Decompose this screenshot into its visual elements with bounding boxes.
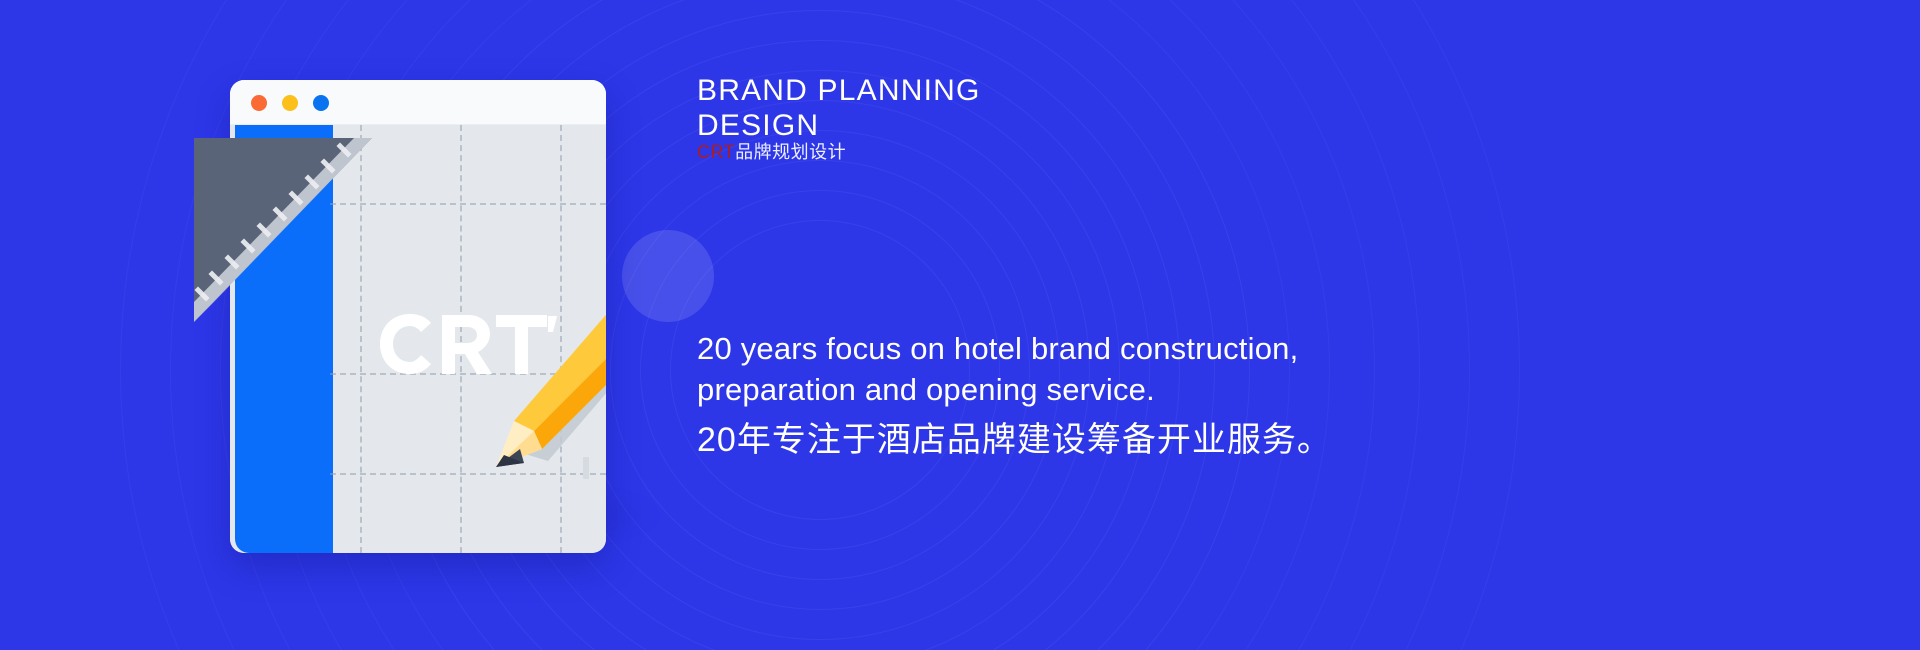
subheading-brand: CRT	[697, 142, 735, 162]
pencil-icon	[478, 271, 606, 481]
close-dot-icon	[251, 95, 267, 111]
browser-titlebar	[230, 80, 606, 125]
copy-block: BRAND PLANNING DESIGN CRT品牌规划设计 20 years…	[697, 0, 1797, 650]
subheading-chinese: 品牌规划设计	[735, 142, 846, 162]
tagline-chinese: 20年专注于酒店品牌建设筹备开业服务。	[697, 412, 1332, 461]
tagline-english: 20 years focus on hotel brand constructi…	[697, 328, 1298, 410]
promo-banner: BRAND PLANNING DESIGN CRT品牌规划设计 20 years…	[0, 0, 1920, 650]
subheading: CRT品牌规划设计	[697, 138, 846, 164]
triangle-ruler-icon	[188, 132, 378, 328]
maximize-dot-icon	[313, 95, 329, 111]
minimize-dot-icon	[282, 95, 298, 111]
heading-title: BRAND PLANNING DESIGN	[697, 74, 981, 144]
